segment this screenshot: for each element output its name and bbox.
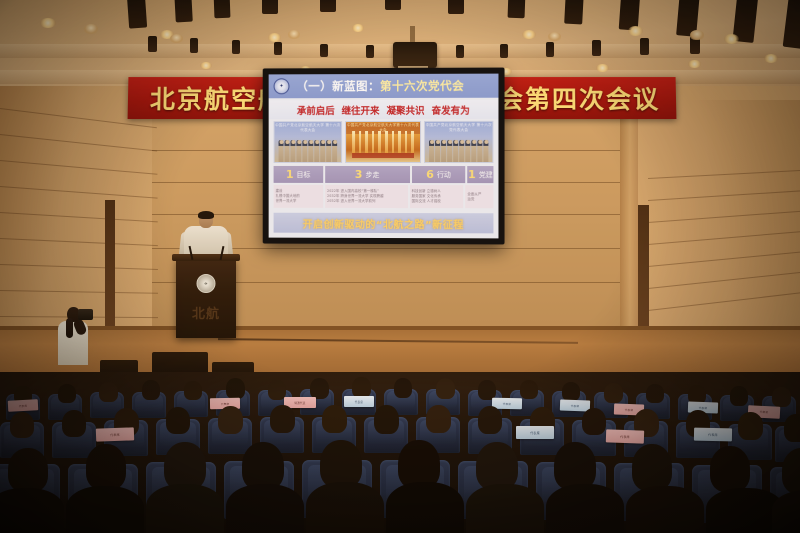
slide-footer-text: 开启创新驱动的“北航之路”新征程 — [303, 215, 464, 230]
subtitle-phrase-3: 凝聚共识 — [386, 102, 424, 116]
audience-head — [646, 384, 664, 403]
ceiling-baffle — [127, 0, 147, 29]
downlight — [724, 34, 739, 44]
col-label-4: 党建 — [479, 170, 493, 180]
audience-head — [554, 442, 596, 490]
audience-head — [322, 405, 347, 433]
slide-photo-row: 中国共产党北京航空航天大学 第十六次代表大会 中国共产党北京航空航天大学第十六次… — [274, 121, 494, 163]
photographer-ponytail — [66, 318, 73, 338]
ceiling-baffle — [448, 0, 464, 14]
congress-stage-lights — [350, 131, 416, 153]
audience-head — [86, 444, 126, 490]
audience-shoulders — [66, 486, 144, 533]
step-line-3: 2052年 进入世界一流大学前列 — [327, 199, 406, 204]
downlight — [688, 60, 701, 68]
col-label-1: 目标 — [296, 169, 310, 179]
slide-title-prefix: （一）新蓝图： — [296, 79, 380, 93]
audience-shoulders — [626, 486, 704, 533]
audience-shoulders — [146, 484, 224, 533]
table-col-steps: 3 步走 — [325, 166, 410, 183]
ceiling-projector — [393, 42, 437, 68]
downlight — [268, 33, 281, 42]
wall-wash-light — [288, 30, 300, 39]
table-cell-goal: 建设 扎根中国大地的 世界一流大学 — [274, 185, 323, 208]
ceiling-baffle — [320, 0, 336, 12]
audience-head — [374, 405, 399, 434]
slide-subtitle: 承前启后 继往开来 凝聚共识 奋发有为 — [269, 100, 499, 119]
audience-head — [226, 378, 245, 399]
slide-table-body: 建设 扎根中国大地的 世界一流大学 2022年 进入国内高校“第一梯队” 203… — [274, 185, 494, 208]
audience-head — [436, 378, 455, 399]
photographer — [55, 305, 97, 365]
audience-head — [310, 378, 329, 399]
downlight — [522, 30, 536, 39]
col-num-4: 1 — [468, 168, 476, 181]
slide-photo-center: 中国共产党北京航空航天大学第十六次代表大会 — [345, 121, 421, 163]
col-num-2: 3 — [355, 168, 363, 181]
ceiling-spotlight — [366, 45, 374, 58]
slide-table-header: 1 目标 3 步走 6 行动 1 党建 — [274, 166, 494, 183]
ceiling-spotlight — [592, 40, 601, 56]
group-photo-people — [275, 136, 342, 162]
downlight — [352, 24, 364, 32]
audience-head — [772, 387, 791, 407]
photo-caption-left: 中国共产党北京航空航天大学 第十六次代表大会 — [275, 123, 342, 134]
action-line-3: 国际交流 人才强校 — [412, 199, 462, 204]
audience-shoulders — [226, 484, 304, 533]
university-logo-icon: ✦ — [274, 78, 290, 94]
audience-head — [142, 380, 160, 400]
ceiling-baffle — [214, 0, 231, 18]
slide-title-accent: 第十六次党代会 — [380, 79, 464, 93]
side-door-left — [105, 200, 115, 340]
slide-header: ✦ （一）新蓝图：第十六次党代会 — [269, 74, 499, 99]
slide-title: （一）新蓝图：第十六次党代会 — [296, 78, 464, 94]
subtitle-phrase-4: 奋发有为 — [432, 102, 470, 116]
audience-head — [164, 442, 206, 490]
downlight — [764, 54, 778, 63]
ceiling-spotlight — [190, 38, 198, 53]
table-cell-party: 全面从严 治党 — [465, 185, 493, 208]
subtitle-phrase-1: 承前启后 — [297, 103, 335, 117]
audience-head — [320, 440, 362, 488]
ceiling-baffle — [564, 0, 584, 24]
delegate-name-card: 代表席 — [96, 427, 134, 441]
audience-head — [738, 412, 763, 440]
slide-footer: 开启创新驱动的“北航之路”新征程 — [274, 213, 494, 234]
wall-wash-light — [548, 32, 561, 41]
ceiling-baffle — [385, 0, 401, 10]
camera-icon — [78, 309, 93, 320]
ceiling-spotlight — [456, 45, 464, 58]
audience-head — [242, 442, 284, 490]
table-cell-steps: 2022年 进入国内高校“第一梯队” 2032年 跻身世界一流大学 实现跨越 2… — [325, 185, 408, 208]
wall-pillar — [620, 100, 638, 350]
delegate-name-card: 代表席 — [8, 399, 39, 412]
delegate-name-card: 代表席 — [344, 396, 374, 407]
audience-shoulders — [306, 482, 384, 533]
podium-top — [172, 254, 240, 261]
ceiling-baffle — [262, 0, 278, 14]
audience-head — [352, 377, 371, 398]
ceiling-spotlight — [500, 44, 508, 58]
delegate-name-card: 代表席 — [606, 429, 644, 443]
slide-photo-left: 中国共产党北京航空航天大学 第十六次代表大会 — [274, 121, 343, 163]
table-col-goal: 1 目标 — [274, 166, 323, 183]
audience-head — [476, 442, 518, 490]
audience-head — [478, 406, 502, 434]
col-num-1: 1 — [286, 168, 294, 181]
downlight — [628, 26, 643, 36]
ceiling-baffle — [174, 0, 193, 22]
downlight — [200, 62, 212, 69]
audience-shoulders — [386, 482, 464, 533]
audience-head — [166, 407, 190, 434]
projection-screen: ✦ （一）新蓝图：第十六次党代会 承前启后 继往开来 凝聚共识 奋发有为 中国共… — [269, 74, 499, 239]
ceiling-spotlight — [232, 40, 240, 54]
photo-caption-right: 中国共产党北京航空航天大学 第十六次党代表大会 — [425, 123, 492, 134]
congress-stage-banner — [352, 153, 414, 158]
audience-head — [99, 382, 118, 402]
audience-head — [394, 378, 412, 398]
wall-wash-light — [690, 30, 704, 40]
delegate-name-card: 代表席 — [694, 428, 732, 442]
wall-wash-light — [170, 34, 183, 43]
university-emblem-icon: ✈ — [197, 274, 216, 293]
audience-shoulders — [466, 484, 544, 533]
table-cell-actions: 科技创新 立德树人 服务国家 文化传承 国际交流 人才强校 — [410, 185, 464, 208]
ceiling-baffle — [508, 0, 526, 18]
audience-head — [10, 412, 34, 438]
ceiling-spotlight — [320, 44, 328, 57]
audience-head — [604, 383, 623, 403]
wall-wash-light — [84, 24, 98, 34]
audience-head — [426, 405, 451, 433]
audience-head — [184, 381, 202, 400]
table-col-party: 1 党建 — [467, 166, 493, 183]
audience-shoulders — [546, 484, 624, 533]
podium-front-text: 北航 — [176, 303, 236, 322]
ceiling-spotlight — [640, 38, 649, 55]
col-num-3: 6 — [426, 168, 434, 181]
presenter-hair — [198, 211, 214, 219]
table-col-actions: 6 行动 — [412, 166, 466, 183]
auditorium-photo: 北京航空航天 会第四次会议 ✦ （一）新蓝图：第十六次党代会 承前启后 继往开来… — [0, 0, 800, 533]
audience-head — [58, 384, 76, 403]
audience-shoulders — [0, 488, 64, 533]
goal-line-3: 世界一流大学 — [276, 199, 321, 204]
audience-head — [784, 414, 800, 442]
audience-head — [8, 448, 48, 492]
audience-head — [710, 446, 750, 492]
podium: ✈ 北航 — [176, 258, 236, 338]
audience-head — [582, 408, 606, 435]
col-label-2: 步走 — [365, 169, 379, 179]
banner-text-right: 会第四次会议 — [498, 80, 660, 116]
ceiling-spotlight — [546, 42, 554, 57]
ceiling-spotlight — [274, 42, 282, 55]
slide-photo-right: 中国共产党北京航空航天大学 第十六次党代表大会 — [424, 121, 493, 163]
audience-head — [632, 444, 672, 491]
audience-head — [520, 380, 538, 399]
audience-head — [62, 410, 86, 437]
projection-screen-frame: ✦ （一）新蓝图：第十六次党代会 承前启后 继往开来 凝聚共识 奋发有为 中国共… — [263, 68, 505, 245]
party-line-2: 治党 — [467, 197, 491, 202]
subtitle-phrase-2: 继往开来 — [342, 103, 380, 117]
audience-head — [218, 406, 243, 434]
audience-head — [270, 405, 295, 433]
audience-head — [562, 382, 580, 401]
audience-head — [730, 386, 748, 406]
col-label-3: 行动 — [437, 170, 451, 180]
delegate-name-card: 代表席 — [516, 426, 554, 439]
group-photo-people — [425, 136, 492, 162]
ceiling-spotlight — [148, 36, 157, 52]
audience-seating: 代表席 代表席 特邀代表 代表席 代表席 代表席 代表席 代表席 代表席 — [0, 372, 800, 533]
downlight — [40, 18, 56, 28]
downlight — [596, 64, 609, 72]
